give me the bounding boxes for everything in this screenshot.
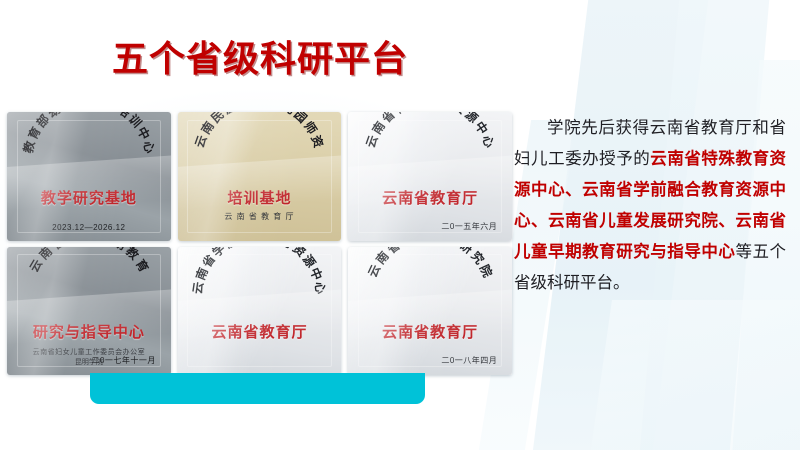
plaque-photo-grid: 教育部幼儿园园长培训中心教学研究基地2023.12—2026.12云南民族地区幼…	[7, 112, 512, 375]
body-paragraph: 学院先后获得云南省教育厅和省妇儿工委办授予的云南省特殊教育资源中心、云南省学前融…	[514, 112, 786, 298]
plaque-date-text: 二0一五年六月	[441, 221, 497, 232]
plaque-surface	[178, 247, 342, 376]
plaque-child-development-research-institute: 云南省儿童发展研究院云南省教育厅二0一八年四月	[348, 247, 512, 376]
plaque-child-early-education-research-guidance-center: 云南省儿童早期教育研究与指导中心云南省妇女儿童工作委员会办公室昆明学院二0一七年…	[7, 247, 171, 376]
plaque-ethnic-kindergarten-teacher-training: 云南民族地区幼儿园师资培训基地云 南 省 教 育 厅	[178, 112, 342, 241]
plaque-date-text: 2023.12—2026.12	[7, 223, 171, 232]
plaque-special-education-resource-center: 云南省特殊教育资源中心云南省教育厅二0一五年六月	[348, 112, 512, 241]
plaque-main-text: 云南省教育厅	[348, 187, 512, 208]
plaque-main-text: 研究与指导中心	[7, 321, 171, 342]
background-ribbon-5	[588, 300, 800, 450]
plaque-date-text: 二0一七年十一月	[91, 355, 155, 366]
plaque-surface	[7, 112, 171, 241]
plaque-main-text: 培训基地	[178, 187, 342, 208]
plaque-date-text: 二0一八年四月	[441, 355, 497, 366]
page-title: 五个省级科研平台	[112, 30, 408, 82]
plaque-moe-principal-training: 教育部幼儿园园长培训中心教学研究基地2023.12—2026.12	[7, 112, 171, 241]
plaque-main-text: 云南省教育厅	[178, 321, 342, 342]
plaque-preschool-inclusive-education-resource-center: 云南省学前融合教育资源中心云南省教育厅	[178, 247, 342, 376]
plaque-main-text: 教学研究基地	[7, 187, 171, 208]
slide-canvas: 五个省级科研平台 教育部幼儿园园长培训中心教学研究基地2023.12—2026.…	[0, 0, 800, 450]
accent-bar	[90, 373, 425, 404]
plaque-issuer-text: 云 南 省 教 育 厅	[178, 211, 342, 222]
plaque-main-text: 云南省教育厅	[348, 321, 512, 342]
